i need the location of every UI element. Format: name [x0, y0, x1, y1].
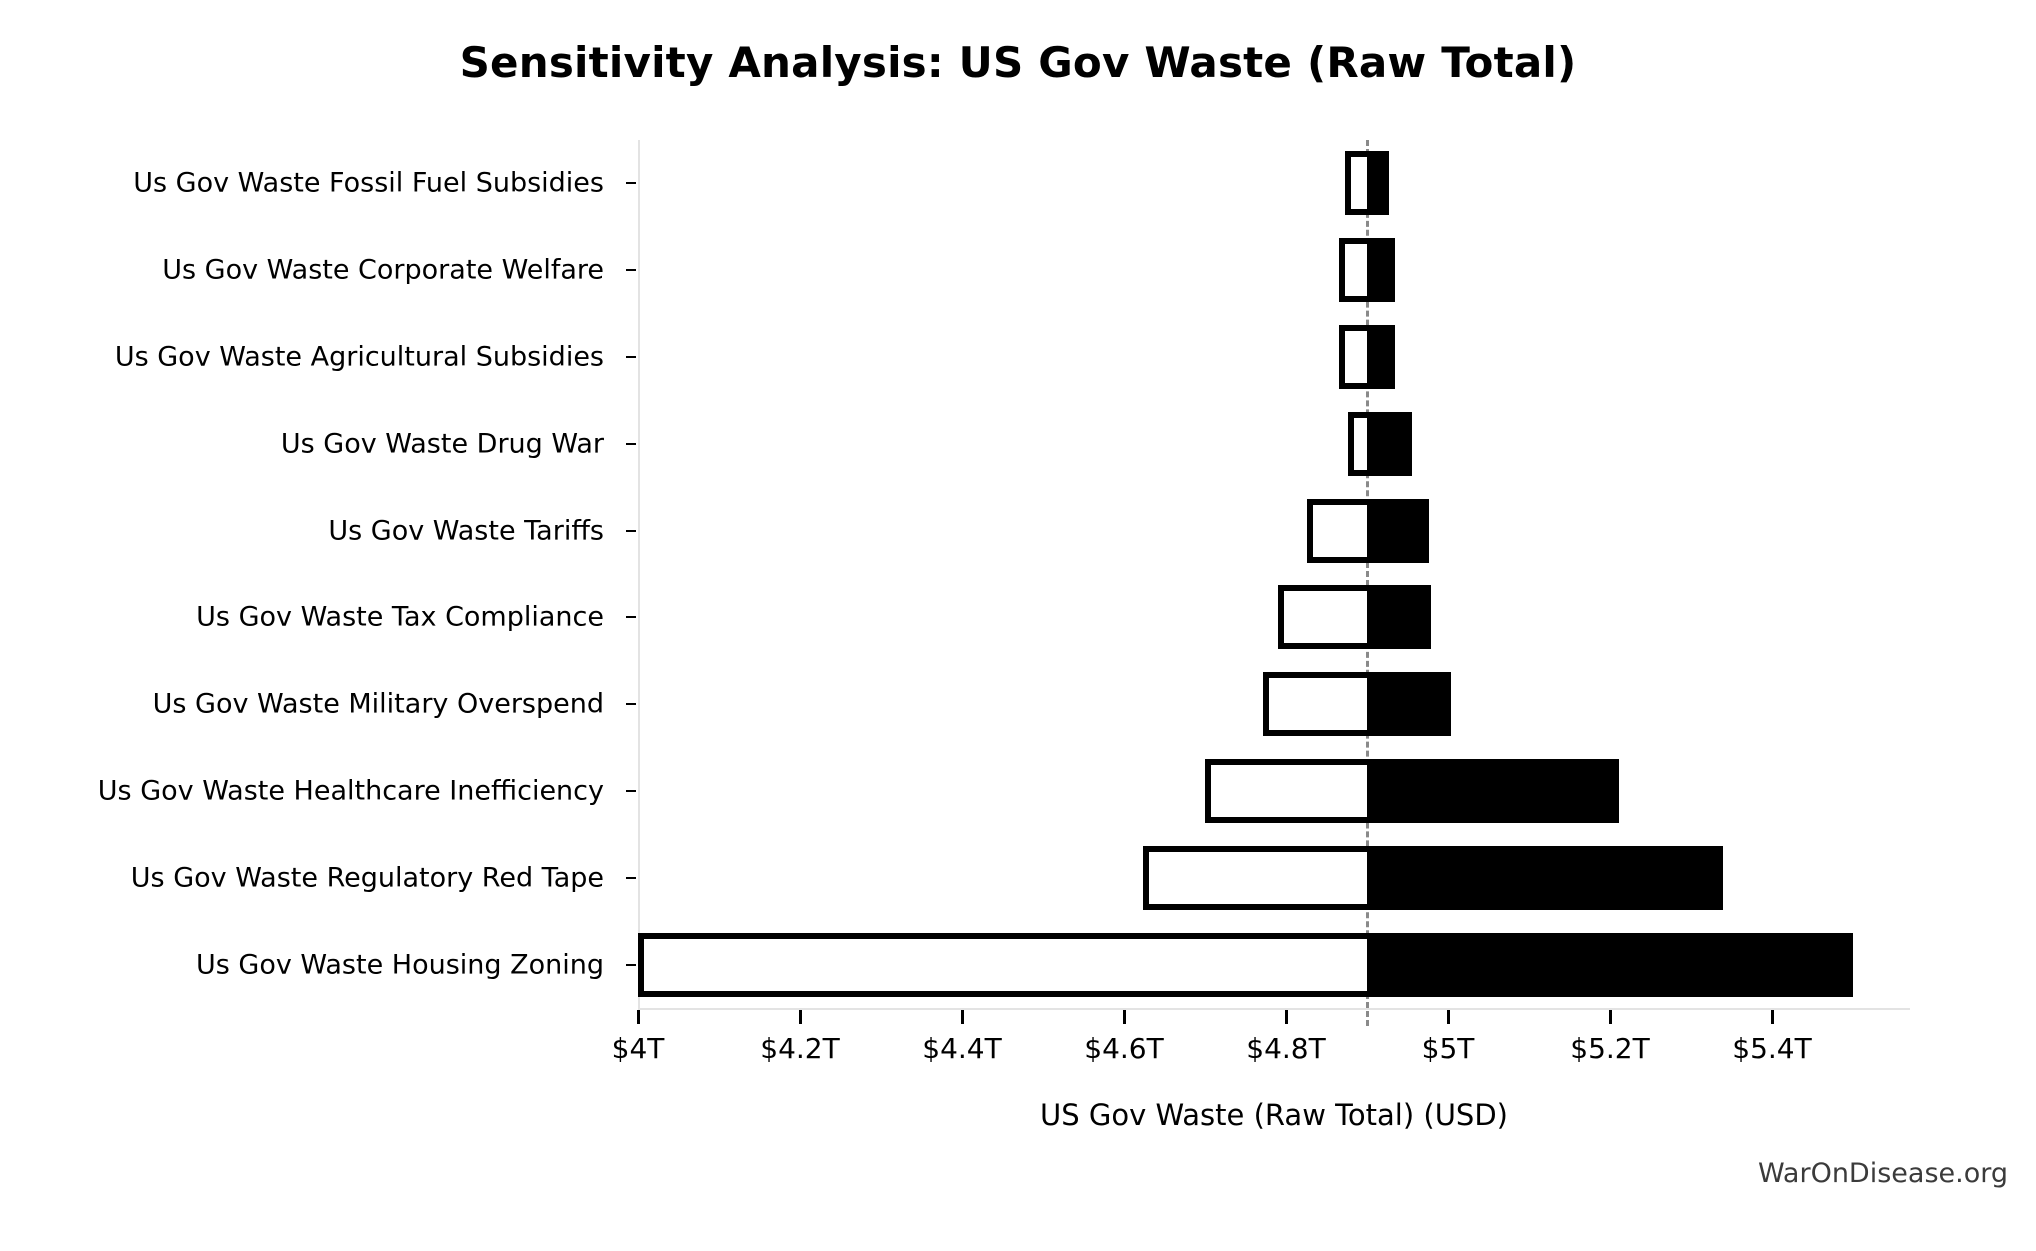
- x-axis-tick-mark: [1123, 1010, 1126, 1024]
- bar-high-segment: [1367, 933, 1853, 997]
- tornado-bar-row: [0, 834, 2036, 921]
- tornado-bar-row: [0, 140, 2036, 227]
- x-axis-tick-mark: [637, 1010, 640, 1024]
- tornado-bar-row: [0, 574, 2036, 661]
- x-axis-tick-mark: [799, 1010, 802, 1024]
- bar-high-segment: [1367, 151, 1389, 215]
- x-axis-tick-mark: [1771, 1010, 1774, 1024]
- bar-high-segment: [1367, 499, 1429, 563]
- bar-low-segment: [1339, 325, 1367, 389]
- bar-low-segment: [1143, 846, 1367, 910]
- x-axis-tick-label: $4.6T: [1084, 1032, 1163, 1065]
- tornado-bar-row: [0, 921, 2036, 1008]
- tornado-bar-row: [0, 748, 2036, 835]
- tornado-bar-row: [0, 661, 2036, 748]
- x-axis-tick-mark: [961, 1010, 964, 1024]
- bar-low-segment: [1339, 238, 1367, 302]
- watermark: WarOnDisease.org: [1758, 1158, 2008, 1189]
- bar-low-segment: [1278, 585, 1367, 649]
- chart-title: Sensitivity Analysis: US Gov Waste (Raw …: [0, 38, 2036, 87]
- x-axis-tick-label: $4.4T: [922, 1032, 1001, 1065]
- bar-high-segment: [1367, 325, 1395, 389]
- tornado-bar-row: [0, 314, 2036, 401]
- x-axis-tick-label: $4.2T: [760, 1032, 839, 1065]
- x-axis-tick-label: $5.4T: [1732, 1032, 1811, 1065]
- tornado-bar-row: [0, 227, 2036, 314]
- bar-high-segment: [1367, 672, 1451, 736]
- bar-high-segment: [1367, 238, 1395, 302]
- x-axis-title: US Gov Waste (Raw Total) (USD): [638, 1098, 1910, 1132]
- tornado-bar-row: [0, 400, 2036, 487]
- x-axis-tick-label: $5T: [1422, 1032, 1475, 1065]
- x-axis-tick-mark: [1447, 1010, 1450, 1024]
- x-axis-tick-label: $4T: [612, 1032, 665, 1065]
- bar-high-segment: [1367, 759, 1619, 823]
- bar-low-segment: [1263, 672, 1367, 736]
- bar-low-segment: [1345, 151, 1367, 215]
- x-axis-tick-mark: [1609, 1010, 1612, 1024]
- x-axis-tick-label: $5.2T: [1570, 1032, 1649, 1065]
- sensitivity-chart: Sensitivity Analysis: US Gov Waste (Raw …: [0, 0, 2036, 1251]
- bar-high-segment: [1367, 846, 1723, 910]
- bar-low-segment: [1205, 759, 1367, 823]
- bar-low-segment: [638, 933, 1367, 997]
- bar-high-segment: [1367, 412, 1412, 476]
- x-axis-tick-label: $4.8T: [1246, 1032, 1325, 1065]
- bar-low-segment: [1348, 412, 1367, 476]
- bar-high-segment: [1367, 585, 1431, 649]
- bar-low-segment: [1307, 499, 1367, 563]
- x-axis-tick-mark: [1285, 1010, 1288, 1024]
- tornado-bar-row: [0, 487, 2036, 574]
